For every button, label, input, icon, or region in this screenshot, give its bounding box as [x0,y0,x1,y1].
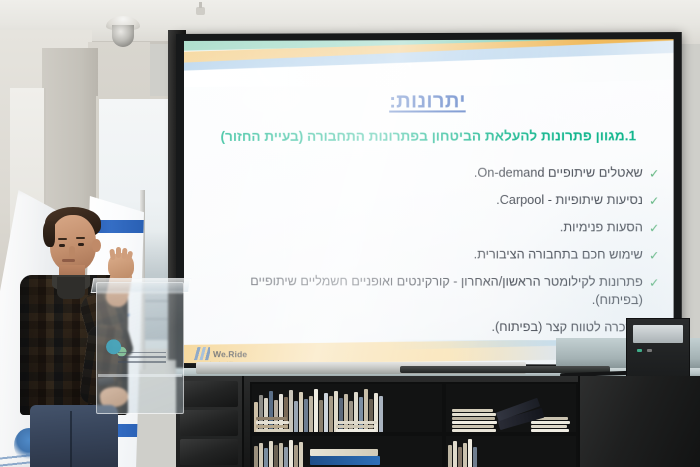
book [379,396,383,432]
weride-logo-text: We.Ride [213,349,247,359]
finger [109,249,115,261]
book-stack [452,409,497,432]
status-led-grey [647,349,652,352]
book [452,421,497,424]
book [274,445,278,467]
book [294,445,298,467]
security-camera-dome [112,25,134,47]
shelf-compartment [250,382,444,434]
weride-mark-icon [194,347,210,360]
book [453,441,457,467]
book [259,443,263,467]
book [310,449,378,456]
book [264,448,268,467]
presenter-hair-side [43,221,55,247]
shelf-compartment [444,382,578,434]
shelf-drawer-column [176,376,244,467]
book [458,447,462,467]
book [319,400,323,432]
drawer[interactable] [180,410,238,436]
book [531,421,570,424]
slide-subtitle: 1.מגוון פתרונות להעלאת הביטחון בפתרונות … [184,128,674,144]
eye [78,243,84,246]
presenter-mouth [62,259,75,262]
presenter-ear [92,239,101,252]
book [254,446,258,467]
book [256,425,288,428]
book [269,441,273,467]
book [463,443,467,467]
podium-shelf [98,374,182,377]
book [279,443,283,467]
book [452,429,496,432]
projection-screen: יתרונות: 1.מגוון פתרונות להעלאת הביטחון … [184,39,674,365]
book [284,447,288,467]
shelf-side-panel [578,376,700,467]
check-icon: ✓ [649,165,659,183]
eye [59,244,65,247]
shelf-compartment-lower [444,434,578,467]
check-icon: ✓ [649,192,659,210]
check-icon: ✓ [649,219,659,237]
book [289,440,293,467]
book-row [254,436,303,467]
finger [126,251,134,263]
check-icon: ✓ [649,274,659,292]
book [468,439,472,467]
book [256,429,290,432]
book [448,445,452,467]
av-equipment-rack [626,318,690,378]
list-item: ✓ פתרונות לקילומטר הראשון/האחרון - קורקי… [198,273,659,310]
slide-top-banner [184,39,674,87]
book [294,401,298,432]
slide-bullet-list: ✓ שאטלים שיתופיים On-demand. ✓ נסיעות שי… [198,165,659,347]
eyebrow [58,238,67,240]
list-item: ✓ השכרה לטווח קצר (בפיתוח). [198,318,659,337]
book [256,421,289,424]
book [336,421,377,424]
bullet-text: השכרה לטווח קצר (בפיתוח). [198,318,643,337]
list-item: ✓ שאטלים שיתופיים On-demand. [198,165,659,183]
presenter-head [50,215,96,271]
book [324,393,328,432]
book-stack [256,417,290,432]
presentation-slide: יתרונות: 1.מגוון פתרונות להעלאת הביטחון … [184,39,674,365]
check-icon: ✓ [649,247,659,265]
bullet-text: פתרונות לקילומטר הראשון/האחרון - קורקינט… [198,273,643,310]
book [336,425,374,428]
book-row [448,436,477,467]
sprinkler-icon [196,7,205,15]
podium-logo-text [118,352,166,363]
book [473,447,477,467]
bullet-text: שימוש חכם בתחבורה הציבורית. [198,246,643,264]
weride-logo: We.Ride [194,347,247,360]
shelf-compartment-lower [250,434,444,467]
book [309,396,313,432]
eyebrow [76,237,85,239]
drawer[interactable] [180,381,238,407]
equipment-faceplate [633,325,683,343]
book [299,392,303,432]
nose [69,246,75,258]
jeans-seam [70,411,72,467]
drawer[interactable] [180,439,238,465]
book-stack [336,421,377,432]
presenter-jeans [30,405,118,467]
black-bookshelf [176,376,700,467]
book [310,456,380,465]
list-item: ✓ שימוש חכם בתחבורה הציבורית. [198,246,659,265]
book [531,425,567,428]
list-item: ✓ הסעות פנימיות. [198,219,659,237]
book [452,413,496,416]
book [531,429,569,432]
book [256,417,287,420]
projection-screen-frame: יתרונות: 1.מגוון פתרונות להעלאת הביטחון … [176,32,682,372]
book [452,417,495,420]
book [452,425,494,428]
bullet-text: שאטלים שיתופיים On-demand. [198,165,643,183]
bullet-text: נסיעות שיתופיות - Carpool. [198,192,643,210]
finger [116,247,121,258]
book [304,399,308,432]
presenter-gesturing-hand [108,253,134,279]
bullet-text: הסעות פנימיות. [198,219,643,237]
list-item: ✓ נסיעות שיתופיות - Carpool. [198,192,659,210]
book [336,429,376,432]
status-led-green [637,349,642,352]
slide-title: יתרונות: [184,90,674,114]
book [452,409,493,412]
book [314,389,318,432]
book [329,396,333,432]
book [299,442,303,467]
presentation-room-photo: יתרונות: 1.מגוון פתרונות להעלאת הביטחון … [0,0,700,467]
